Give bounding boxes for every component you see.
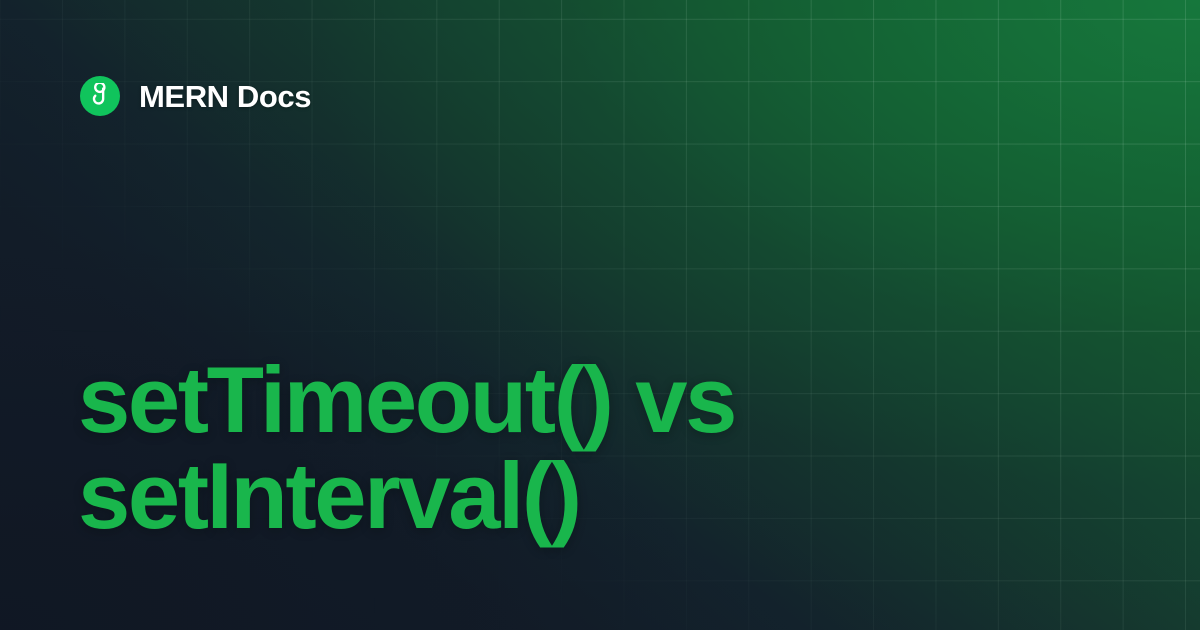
og-card: MERN Docs setTimeout() vs setInterval() xyxy=(0,0,1200,630)
page-title: setTimeout() vs setInterval() xyxy=(78,352,1118,544)
brand-name: MERN Docs xyxy=(139,81,311,112)
brand-lockup: MERN Docs xyxy=(80,76,311,116)
stylized-g-loop-icon xyxy=(80,76,120,116)
